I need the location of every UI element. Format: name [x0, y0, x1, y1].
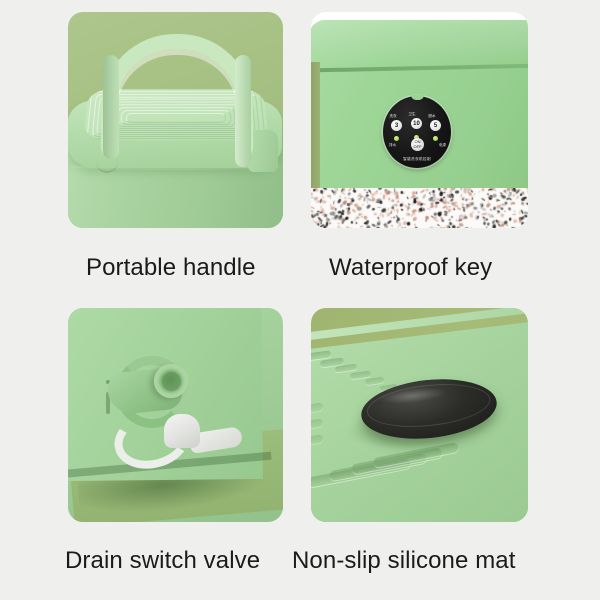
body-left-edge	[311, 62, 320, 206]
panel-side-text-left: 排水	[389, 143, 396, 148]
panel-button-3-label: 脱水	[428, 113, 435, 118]
drain-spout-opening	[162, 372, 181, 391]
panel-led-3	[433, 136, 438, 141]
control-panel[interactable]: 洗衣 3 卫生 10 脱水 5 ON OFF 排水 电源 智能洗衣机控制	[383, 96, 451, 168]
terrazzo-floor	[311, 188, 528, 228]
caption-portable-handle: Portable handle	[86, 256, 256, 280]
panel-button-2[interactable]: 10	[411, 118, 422, 129]
panel-side-text-right: 电源	[439, 143, 446, 148]
panel-button-2-label: 卫生	[408, 111, 415, 116]
panel-bottom-text: 智能洗衣机控制	[403, 156, 431, 162]
panel-button-3[interactable]: 5	[430, 120, 441, 131]
feature-image-waterproof-key: 洗衣 3 卫生 10 脱水 5 ON OFF 排水 电源 智能洗衣机控制	[311, 12, 528, 228]
panel-button-1[interactable]: 3	[391, 120, 402, 131]
feature-grid-board: 洗衣 3 卫生 10 脱水 5 ON OFF 排水 电源 智能洗衣机控制	[0, 0, 600, 600]
panel-led-1	[394, 136, 399, 141]
drain-spout	[154, 364, 188, 398]
caption-waterproof-key: Waterproof key	[329, 256, 492, 280]
feature-image-drain-valve	[68, 308, 283, 522]
carry-handle-shape	[101, 34, 253, 156]
feature-image-portable-handle	[68, 12, 283, 228]
feature-image-silicone-mat	[311, 308, 528, 522]
caption-drain-switch-valve: Drain switch valve	[65, 549, 260, 573]
lid-highlight	[311, 20, 528, 66]
panel-power-off-label: OFF	[414, 145, 422, 149]
panel-power-button[interactable]: ON OFF	[411, 138, 424, 151]
silicone-mat-highlight	[377, 385, 448, 406]
terrazzo-speckle-texture	[311, 188, 528, 228]
appliance-body-shape: 洗衣 3 卫生 10 脱水 5 ON OFF 排水 电源 智能洗衣机控制	[311, 20, 528, 198]
caption-non-slip-silicone-mat: Non-slip silicone mat	[292, 549, 516, 573]
panel-button-1-label: 洗衣	[389, 113, 396, 118]
drain-plug-cap	[164, 414, 200, 448]
panel-notch	[411, 95, 424, 100]
